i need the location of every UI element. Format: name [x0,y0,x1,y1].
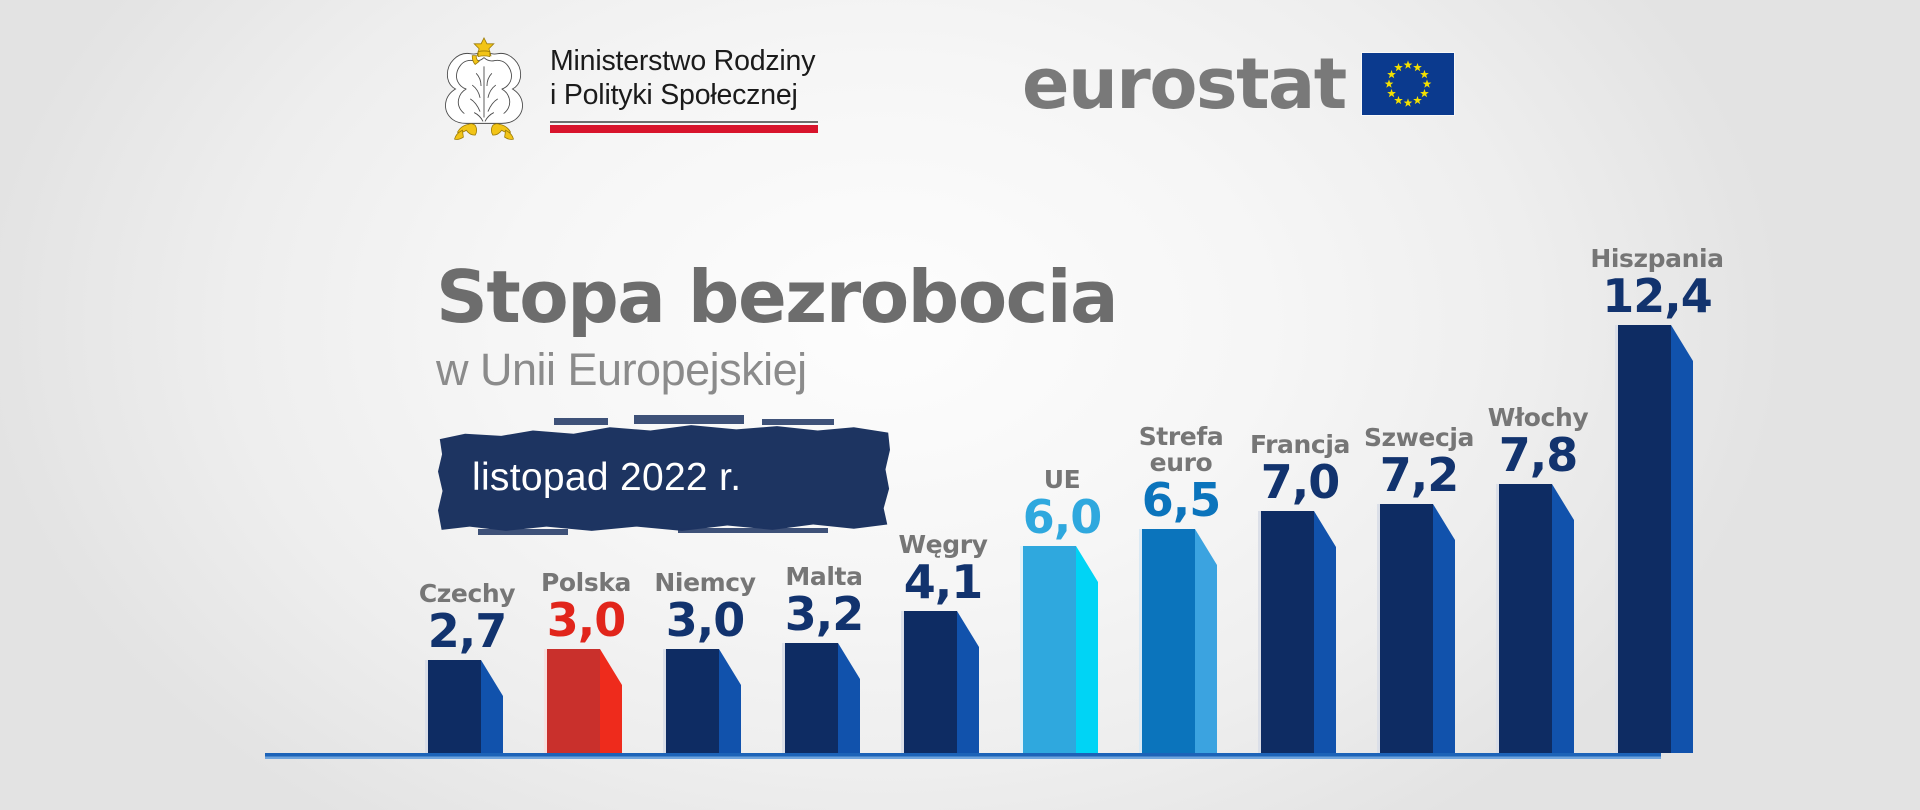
bar-side-face-shape [1076,546,1098,753]
bar-side-face [481,660,503,753]
bar-value-label: 2,7 [397,606,537,656]
bar-value-label: 3,2 [754,589,894,639]
bar-category-label: Włochy [1468,404,1608,431]
bar-label: Strefaeuro6,5 [1111,424,1251,525]
bar-front-face [1139,529,1195,753]
bar-value-label: 3,0 [516,595,656,645]
infographic-root: Ministerstwo Rodziny i Polityki Społeczn… [0,0,1920,810]
bar-szwecja[interactable] [1377,504,1455,753]
bar-category-label: Niemcy [635,569,775,596]
bar-label: Szwecja7,2 [1349,424,1489,500]
bar-side-face-shape [957,611,979,753]
bar-value-label: 6,0 [992,492,1132,542]
bar-niemcy[interactable] [663,649,741,753]
bar-side-face [600,649,622,753]
bar-side-face-shape [1552,484,1574,753]
bar-value-label: 6,5 [1111,475,1251,525]
bar-hiszpania[interactable] [1615,325,1693,753]
bar-strefa-euro[interactable] [1139,529,1217,753]
bar-front-face [544,649,600,753]
bar-category-label: Węgry [873,531,1013,558]
bar-category-label: Malta [754,563,894,590]
bar-węgry[interactable] [901,611,979,753]
bar-side-face-shape [481,660,503,753]
bar-polska[interactable] [544,649,622,753]
bar-side-face [838,643,860,753]
bar-category-label: Polska [516,569,656,596]
bar-side-face-shape [1314,511,1336,753]
bar-side-face-shape [719,649,741,753]
bar-category-label: Strefaeuro [1111,424,1251,476]
bar-front-face [1615,325,1671,753]
bar-category-label: Szwecja [1349,424,1489,451]
bar-group: Polska3,0 [544,529,624,753]
bar-group: Włochy7,8 [1496,364,1576,753]
bar-value-label: 7,8 [1468,430,1608,480]
bar-włochy[interactable] [1496,484,1574,753]
bar-front-face [1496,484,1552,753]
date-badge-label: listopad 2022 r. [438,456,741,500]
bar-side-face-shape [1671,325,1693,753]
bar-group: Strefaeuro6,5 [1139,409,1219,753]
bar-side-face [1076,546,1098,753]
bar-category-label: Francja [1230,431,1370,458]
bar-side-face-shape [1433,504,1455,753]
bar-francja[interactable] [1258,511,1336,753]
bar-front-face [663,649,719,753]
bar-side-face [1195,529,1217,753]
bar-chart: Czechy2,7Polska3,0Niemcy3,0Malta3,2Węgry… [0,0,1920,810]
bar-value-label: 3,0 [635,595,775,645]
bar-label: Hiszpania12,4 [1587,245,1727,321]
bar-category-label: Czechy [397,580,537,607]
bar-side-face [1552,484,1574,753]
bar-label: Włochy7,8 [1468,404,1608,480]
bar-side-face-shape [838,643,860,753]
bar-label: Niemcy3,0 [635,569,775,645]
bar-value-label: 4,1 [873,557,1013,607]
bar-value-label: 12,4 [1587,271,1727,321]
bar-side-face [1433,504,1455,753]
bar-group: Niemcy3,0 [663,529,743,753]
bar-front-face [901,611,957,753]
bar-side-face [719,649,741,753]
bar-group: Francja7,0 [1258,391,1338,753]
bar-group: UE6,0 [1020,426,1100,753]
bar-group: Węgry4,1 [901,491,981,753]
bar-label: Czechy2,7 [397,580,537,656]
bar-group: Szwecja7,2 [1377,384,1457,753]
bar-front-face [1258,511,1314,753]
bar-value-label: 7,0 [1230,457,1370,507]
bar-value-label: 7,2 [1349,450,1489,500]
bar-side-face-shape [1195,529,1217,753]
bar-label: Węgry4,1 [873,531,1013,607]
bar-category-label: Hiszpania [1587,245,1727,272]
bar-label: Polska3,0 [516,569,656,645]
bar-label: Francja7,0 [1230,431,1370,507]
bar-side-face [1671,325,1693,753]
bar-front-face [1377,504,1433,753]
bar-czechy[interactable] [425,660,503,753]
bar-label: UE6,0 [992,466,1132,542]
chart-baseline [265,753,1661,759]
bar-category-label: UE [992,466,1132,493]
bar-ue[interactable] [1020,546,1098,753]
bar-front-face [1020,546,1076,753]
bar-side-face-shape [600,649,622,753]
bar-side-face [957,611,979,753]
bar-group: Malta3,2 [782,523,862,753]
bar-malta[interactable] [782,643,860,753]
bar-group: Czechy2,7 [425,540,505,753]
bar-side-face [1314,511,1336,753]
bar-group: Hiszpania12,4 [1615,205,1695,753]
bar-label: Malta3,2 [754,563,894,639]
bar-front-face [425,660,481,753]
bar-front-face [782,643,838,753]
